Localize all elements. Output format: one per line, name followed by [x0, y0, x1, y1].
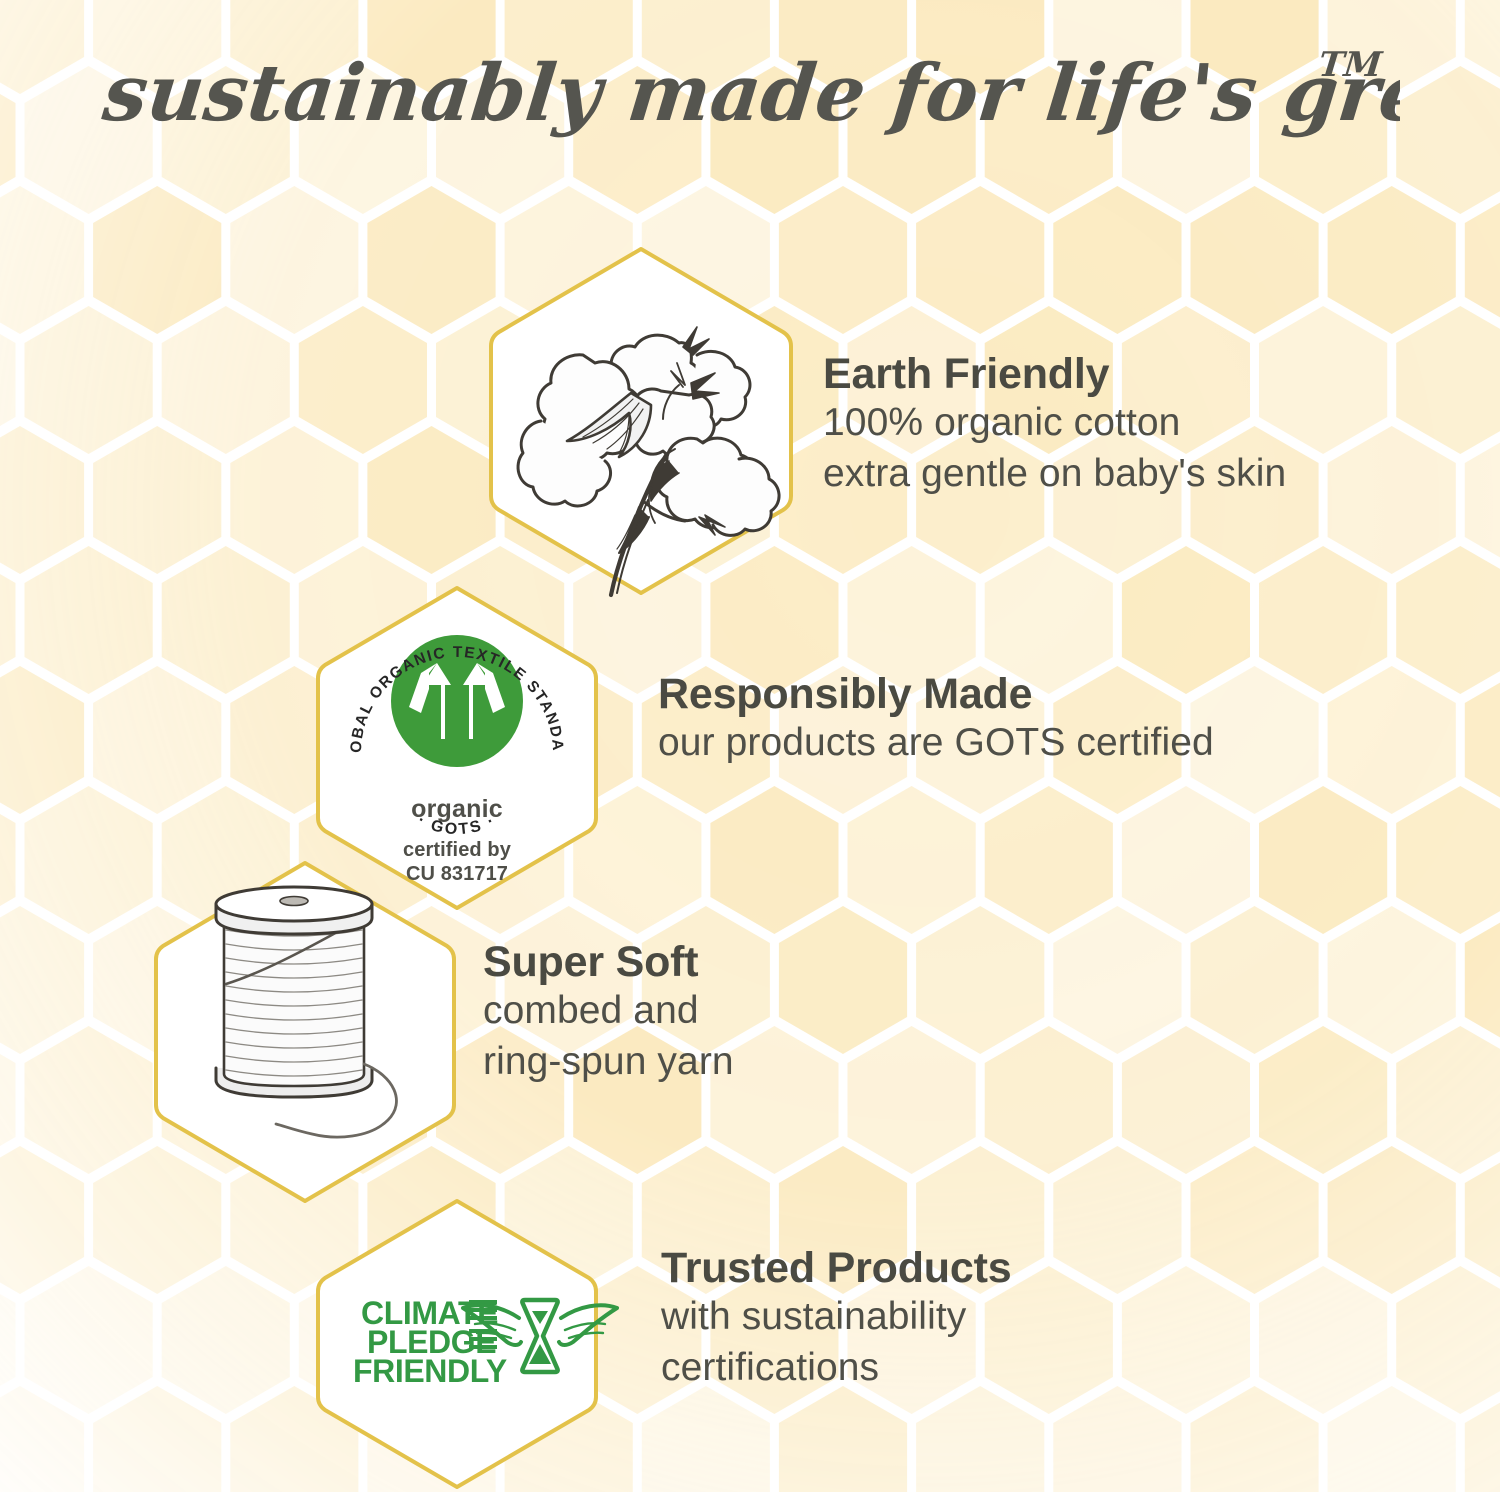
tagline-script-text: sustainably made for life's greatest joy… — [100, 34, 1400, 154]
hexagon-frame-spool — [148, 858, 462, 1206]
feature-body-line: extra gentle on baby's skin — [823, 449, 1286, 500]
feature-title: Earth Friendly — [823, 350, 1286, 398]
feature-body-line: with sustainability — [661, 1292, 1011, 1343]
tagline-text: sustainably made for life's greatest joy — [100, 48, 1400, 139]
feature-body-line: our products are GOTS certified — [658, 718, 1214, 769]
climate-pledge-wordmark: CLIMATE PLEDGE FRIENDLY — [353, 1295, 507, 1389]
feature-card-trusted-products: CLIMATE PLEDGE FRIENDLY — [311, 1196, 603, 1492]
feature-text-responsibly-made: Responsibly Made our products are GOTS c… — [658, 670, 1214, 769]
trademark-symbol: TM — [1317, 45, 1385, 85]
feature-body-line: combed and — [483, 986, 734, 1037]
climate-line-3: FRIENDLY — [353, 1353, 507, 1389]
tagline: sustainably made for life's greatest joy… — [0, 34, 1500, 159]
feature-card-super-soft — [148, 858, 462, 1206]
feature-text-super-soft: Super Soft combed and ring-spun yarn — [483, 938, 734, 1088]
hexagon-frame-climate: CLIMATE PLEDGE FRIENDLY — [311, 1196, 603, 1492]
feature-text-earth-friendly: Earth Friendly 100% organic cotton extra… — [823, 350, 1286, 500]
feature-text-trusted-products: Trusted Products with sustainability cer… — [661, 1244, 1011, 1394]
feature-title: Responsibly Made — [658, 670, 1214, 718]
feature-body-line: ring-spun yarn — [483, 1037, 734, 1088]
feature-title: Trusted Products — [661, 1244, 1011, 1292]
hexagon-frame-cotton — [483, 243, 799, 599]
feature-title: Super Soft — [483, 938, 734, 986]
feature-card-earth-friendly — [483, 243, 799, 599]
feature-body-line: 100% organic cotton — [823, 398, 1286, 449]
gots-organic-label: organic — [311, 795, 603, 824]
feature-body-line: certifications — [661, 1343, 1011, 1394]
